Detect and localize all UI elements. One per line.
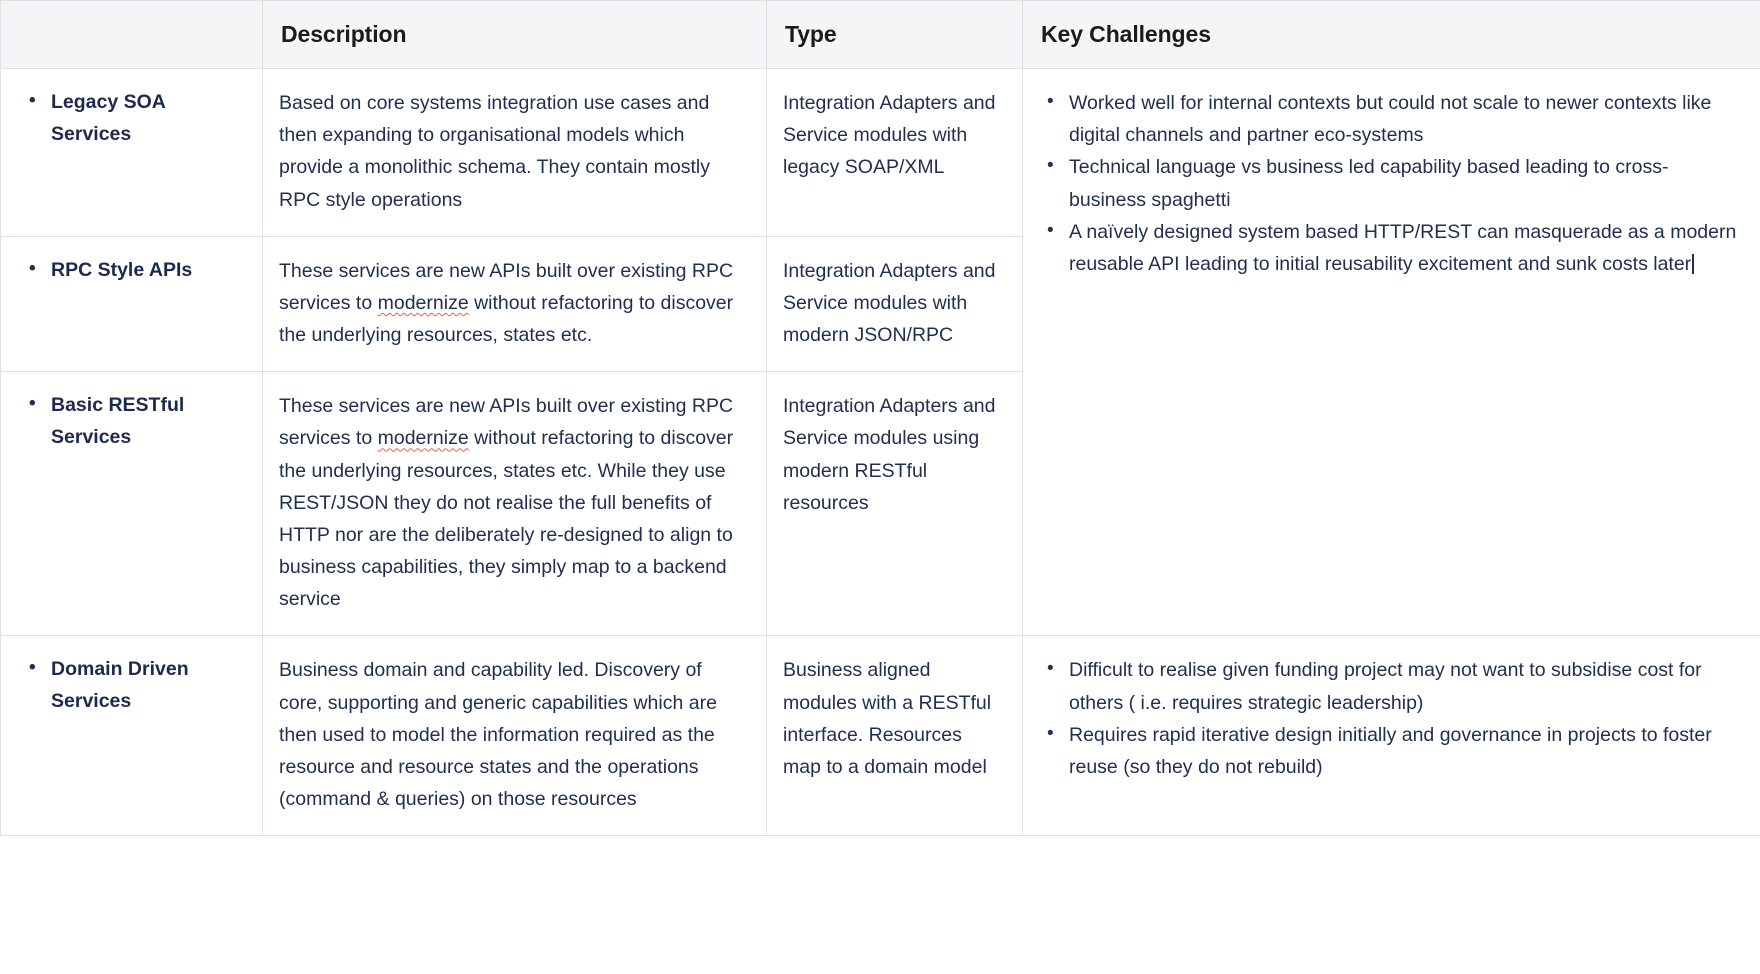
column-header-type: Type: [767, 1, 1023, 69]
service-name-cell: Legacy SOA Services: [1, 69, 263, 237]
table-row: Domain Driven Services Business domain a…: [1, 636, 1760, 836]
list-item: RPC Style APIs: [49, 255, 242, 287]
challenge-text: Technical language vs business led capab…: [1069, 156, 1668, 210]
service-name-list: RPC Style APIs: [19, 255, 242, 287]
service-comparison-table: Description Type Key Challenges Legacy S…: [0, 0, 1760, 836]
document-canvas: Description Type Key Challenges Legacy S…: [0, 0, 1760, 974]
list-item: Requires rapid iterative design initiall…: [1067, 719, 1742, 783]
service-name-list: Basic RESTful Services: [19, 390, 242, 453]
challenge-text: A naïvely designed system based HTTP/RES…: [1069, 221, 1736, 275]
column-header-description: Description: [263, 1, 767, 69]
table-body: Legacy SOA Services Based on core system…: [1, 69, 1760, 836]
column-header-name: [1, 1, 263, 69]
list-item: Domain Driven Services: [49, 654, 242, 717]
challenge-text: Difficult to realise given funding proje…: [1069, 659, 1702, 713]
service-type-cell[interactable]: Integration Adapters and Service modules…: [767, 236, 1023, 372]
type-text: Integration Adapters and Service modules…: [783, 255, 1004, 352]
list-item: Worked well for internal contexts but co…: [1067, 87, 1742, 151]
list-item: Technical language vs business led capab…: [1067, 151, 1742, 215]
challenge-text: Requires rapid iterative design initiall…: [1069, 724, 1712, 778]
text-cursor-caret: [1692, 254, 1694, 274]
service-type-cell[interactable]: Integration Adapters and Service modules…: [767, 69, 1023, 237]
service-type-cell[interactable]: Business aligned modules with a RESTful …: [767, 636, 1023, 836]
type-text: Integration Adapters and Service modules…: [783, 390, 1004, 519]
service-type-cell[interactable]: Integration Adapters and Service modules…: [767, 372, 1023, 636]
misspelled-word[interactable]: modernize: [378, 427, 469, 449]
description-text: These services are new APIs built over e…: [279, 390, 742, 615]
description-text: Based on core systems integration use ca…: [279, 87, 742, 216]
key-challenges-cell-group-2[interactable]: Difficult to realise given funding proje…: [1023, 636, 1760, 836]
list-item: Legacy SOA Services: [49, 87, 242, 150]
service-description-cell[interactable]: Business domain and capability led. Disc…: [263, 636, 767, 836]
service-name-cell: RPC Style APIs: [1, 236, 263, 372]
column-header-key-challenges: Key Challenges: [1023, 1, 1760, 69]
table-header: Description Type Key Challenges: [1, 1, 1760, 69]
misspelled-word[interactable]: modernize: [378, 292, 469, 314]
service-description-cell[interactable]: Based on core systems integration use ca…: [263, 69, 767, 237]
list-item: A naïvely designed system based HTTP/RES…: [1067, 216, 1742, 280]
description-text: Business domain and capability led. Disc…: [279, 654, 742, 815]
type-text: Integration Adapters and Service modules…: [783, 87, 1004, 184]
service-description-cell[interactable]: These services are new APIs built over e…: [263, 372, 767, 636]
description-text: These services are new APIs built over e…: [279, 255, 742, 352]
table-header-row: Description Type Key Challenges: [1, 1, 1760, 69]
service-name-list: Legacy SOA Services: [19, 87, 242, 150]
service-name-cell: Domain Driven Services: [1, 636, 263, 836]
service-name-list: Domain Driven Services: [19, 654, 242, 717]
key-challenges-list: Difficult to realise given funding proje…: [1037, 654, 1742, 783]
key-challenges-list: Worked well for internal contexts but co…: [1037, 87, 1742, 280]
description-part-after: without refactoring to discover the unde…: [279, 427, 733, 610]
table-row: Legacy SOA Services Based on core system…: [1, 69, 1760, 237]
key-challenges-cell-group-1[interactable]: Worked well for internal contexts but co…: [1023, 69, 1760, 636]
service-description-cell[interactable]: These services are new APIs built over e…: [263, 236, 767, 372]
list-item: Basic RESTful Services: [49, 390, 242, 453]
service-name-cell: Basic RESTful Services: [1, 372, 263, 636]
type-text: Business aligned modules with a RESTful …: [783, 654, 1004, 783]
challenge-text: Worked well for internal contexts but co…: [1069, 92, 1711, 146]
list-item: Difficult to realise given funding proje…: [1067, 654, 1742, 718]
